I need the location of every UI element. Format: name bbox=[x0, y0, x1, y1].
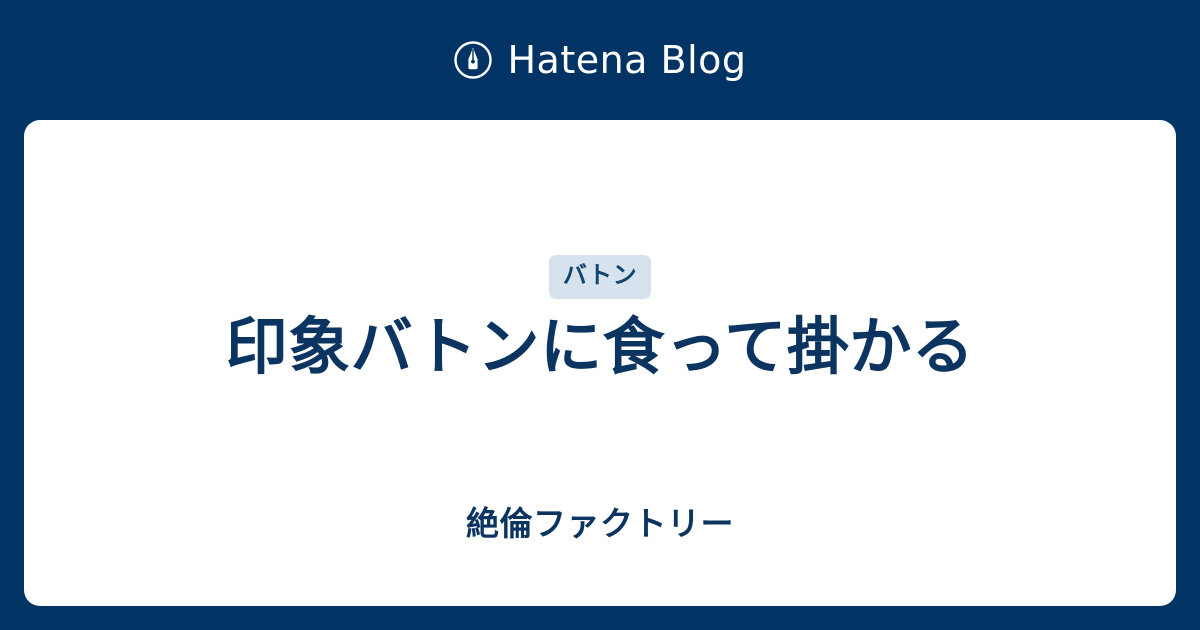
entry-card-inner: バトン 印象バトンに食って掛かる 絶倫ファクトリー bbox=[24, 120, 1176, 606]
pen-nib-icon bbox=[453, 40, 493, 80]
blog-name-row: 絶倫ファクトリー bbox=[24, 502, 1176, 546]
blog-name[interactable]: 絶倫ファクトリー bbox=[466, 502, 734, 546]
hatena-blog-brand-header: Hatena Blog bbox=[0, 0, 1200, 120]
hatena-logo bbox=[453, 40, 493, 80]
og-image-canvas: Hatena Blog バトン 印象バトンに食って掛かる 絶倫ファクトリー bbox=[0, 0, 1200, 630]
entry-card: バトン 印象バトンに食って掛かる 絶倫ファクトリー bbox=[24, 120, 1176, 606]
entry-title[interactable]: 印象バトンに食って掛かる bbox=[226, 305, 975, 391]
category-tag-baton[interactable]: バトン bbox=[549, 255, 651, 299]
entry-title-row: 印象バトンに食って掛かる bbox=[24, 305, 1176, 391]
hatena-blog-brand-name: Hatena Blog bbox=[507, 40, 746, 80]
category-row: バトン bbox=[24, 255, 1176, 299]
